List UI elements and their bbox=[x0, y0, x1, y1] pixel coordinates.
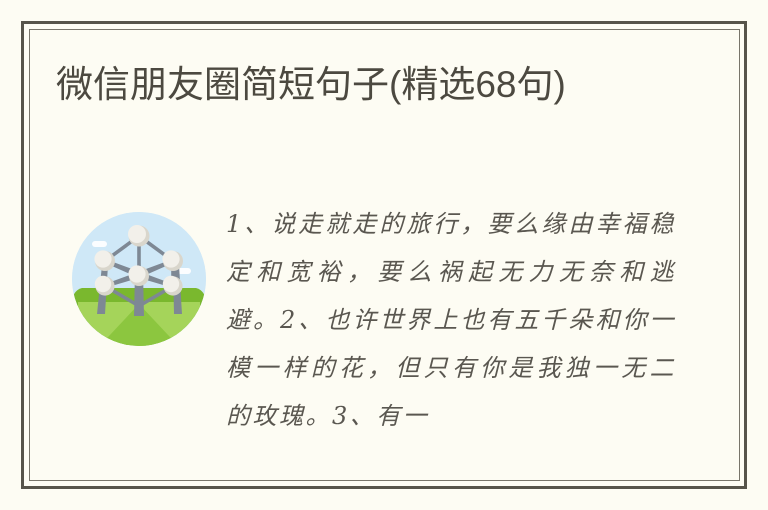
article-card: 微信朋友圈简短句子(精选68句) bbox=[0, 0, 768, 510]
article-body-text: 1、说走就走的旅行，要么缘由幸福稳定和宽裕，要么祸起无力无奈和逃避。2、也许世界… bbox=[226, 200, 676, 440]
page-title: 微信朋友圈简短句子(精选68句) bbox=[56, 58, 696, 112]
article-content: 1、说走就走的旅行，要么缘由幸福稳定和宽裕，要么祸起无力无奈和逃避。2、也许世界… bbox=[56, 196, 696, 456]
atomium-landmark-illustration bbox=[72, 212, 206, 346]
article-thumbnail bbox=[72, 212, 206, 346]
